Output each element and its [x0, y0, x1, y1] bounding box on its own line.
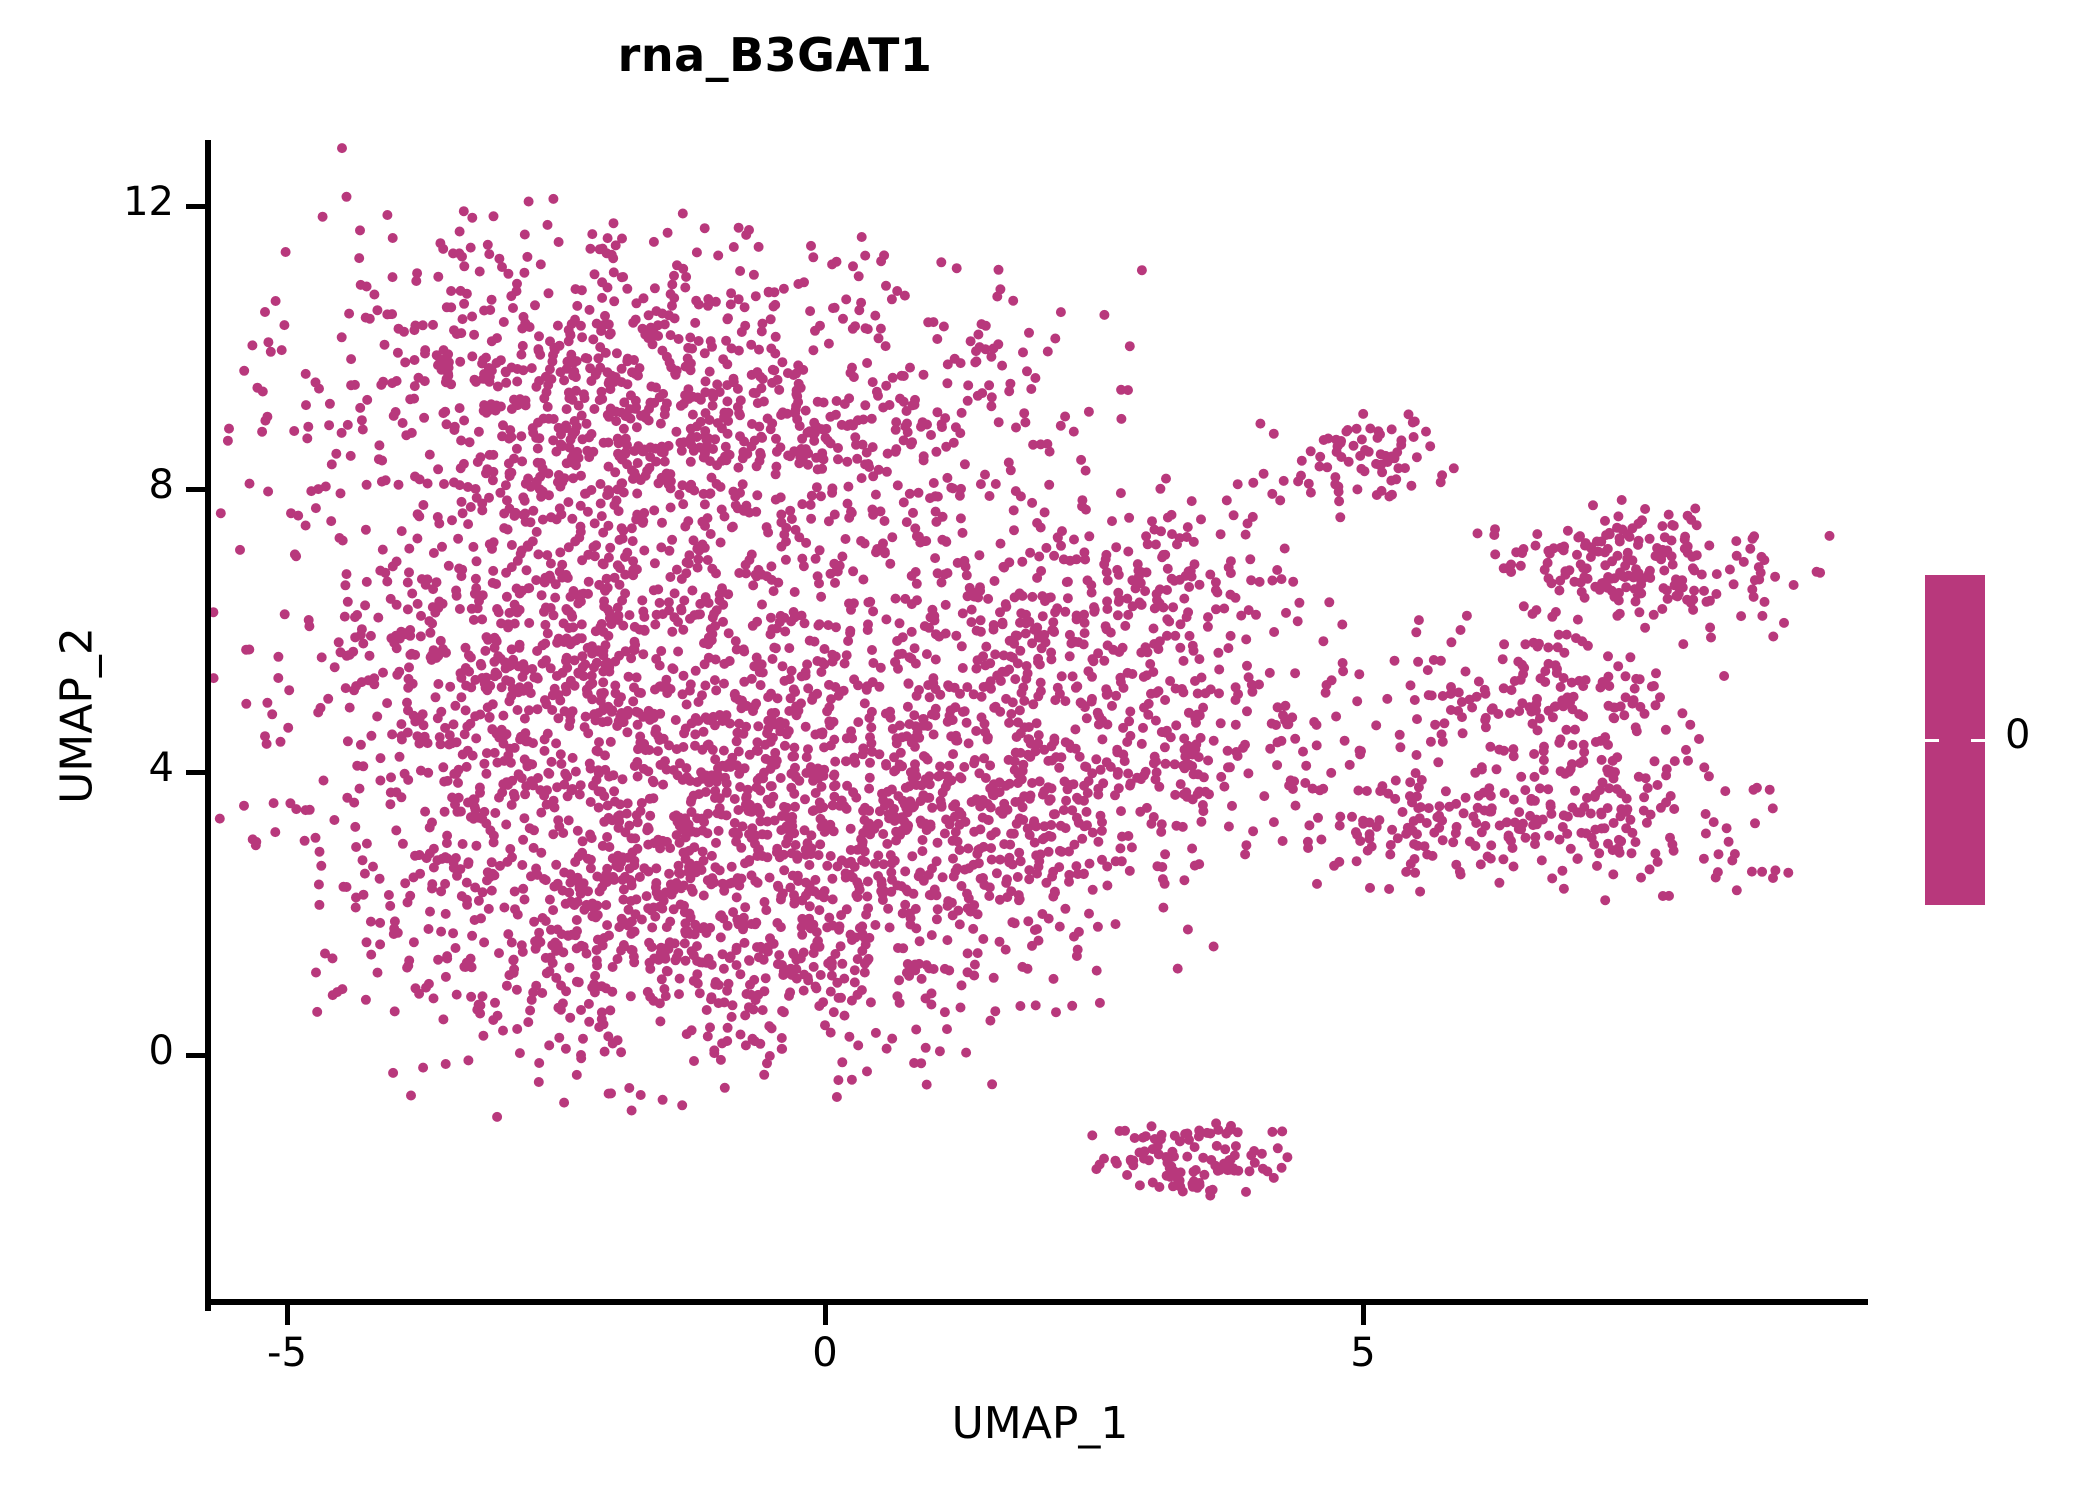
- x-tick-label: 0: [765, 1330, 885, 1376]
- x-tick-mark: [285, 1305, 290, 1325]
- y-tick-mark: [186, 1053, 206, 1058]
- x-tick-label: 5: [1303, 1330, 1423, 1376]
- x-tick-mark: [1361, 1305, 1366, 1325]
- y-tick-mark: [186, 204, 206, 209]
- scatter-point-cloud: [208, 143, 1834, 1201]
- y-axis-label: UMAP_2: [52, 386, 103, 1046]
- x-tick-label: -5: [227, 1330, 347, 1376]
- colorbar-legend: [1925, 575, 1985, 905]
- chart-root: rna_B3GAT1 -50504812 UMAP_1 UMAP_2 0: [0, 0, 2100, 1500]
- x-tick-mark: [823, 1305, 828, 1325]
- colorbar-tick-mark: [1925, 739, 1985, 742]
- page-title: rna_B3GAT1: [210, 28, 1340, 82]
- y-tick-mark: [186, 487, 206, 492]
- colorbar-tick-label: 0: [2005, 712, 2030, 758]
- x-axis-label: UMAP_1: [710, 1398, 1370, 1449]
- scatter-plot-points: [0, 0, 2100, 1500]
- y-tick-label: 12: [34, 179, 174, 225]
- y-axis-spine: [205, 140, 211, 1311]
- y-tick-mark: [186, 770, 206, 775]
- x-axis-spine: [205, 1299, 1868, 1305]
